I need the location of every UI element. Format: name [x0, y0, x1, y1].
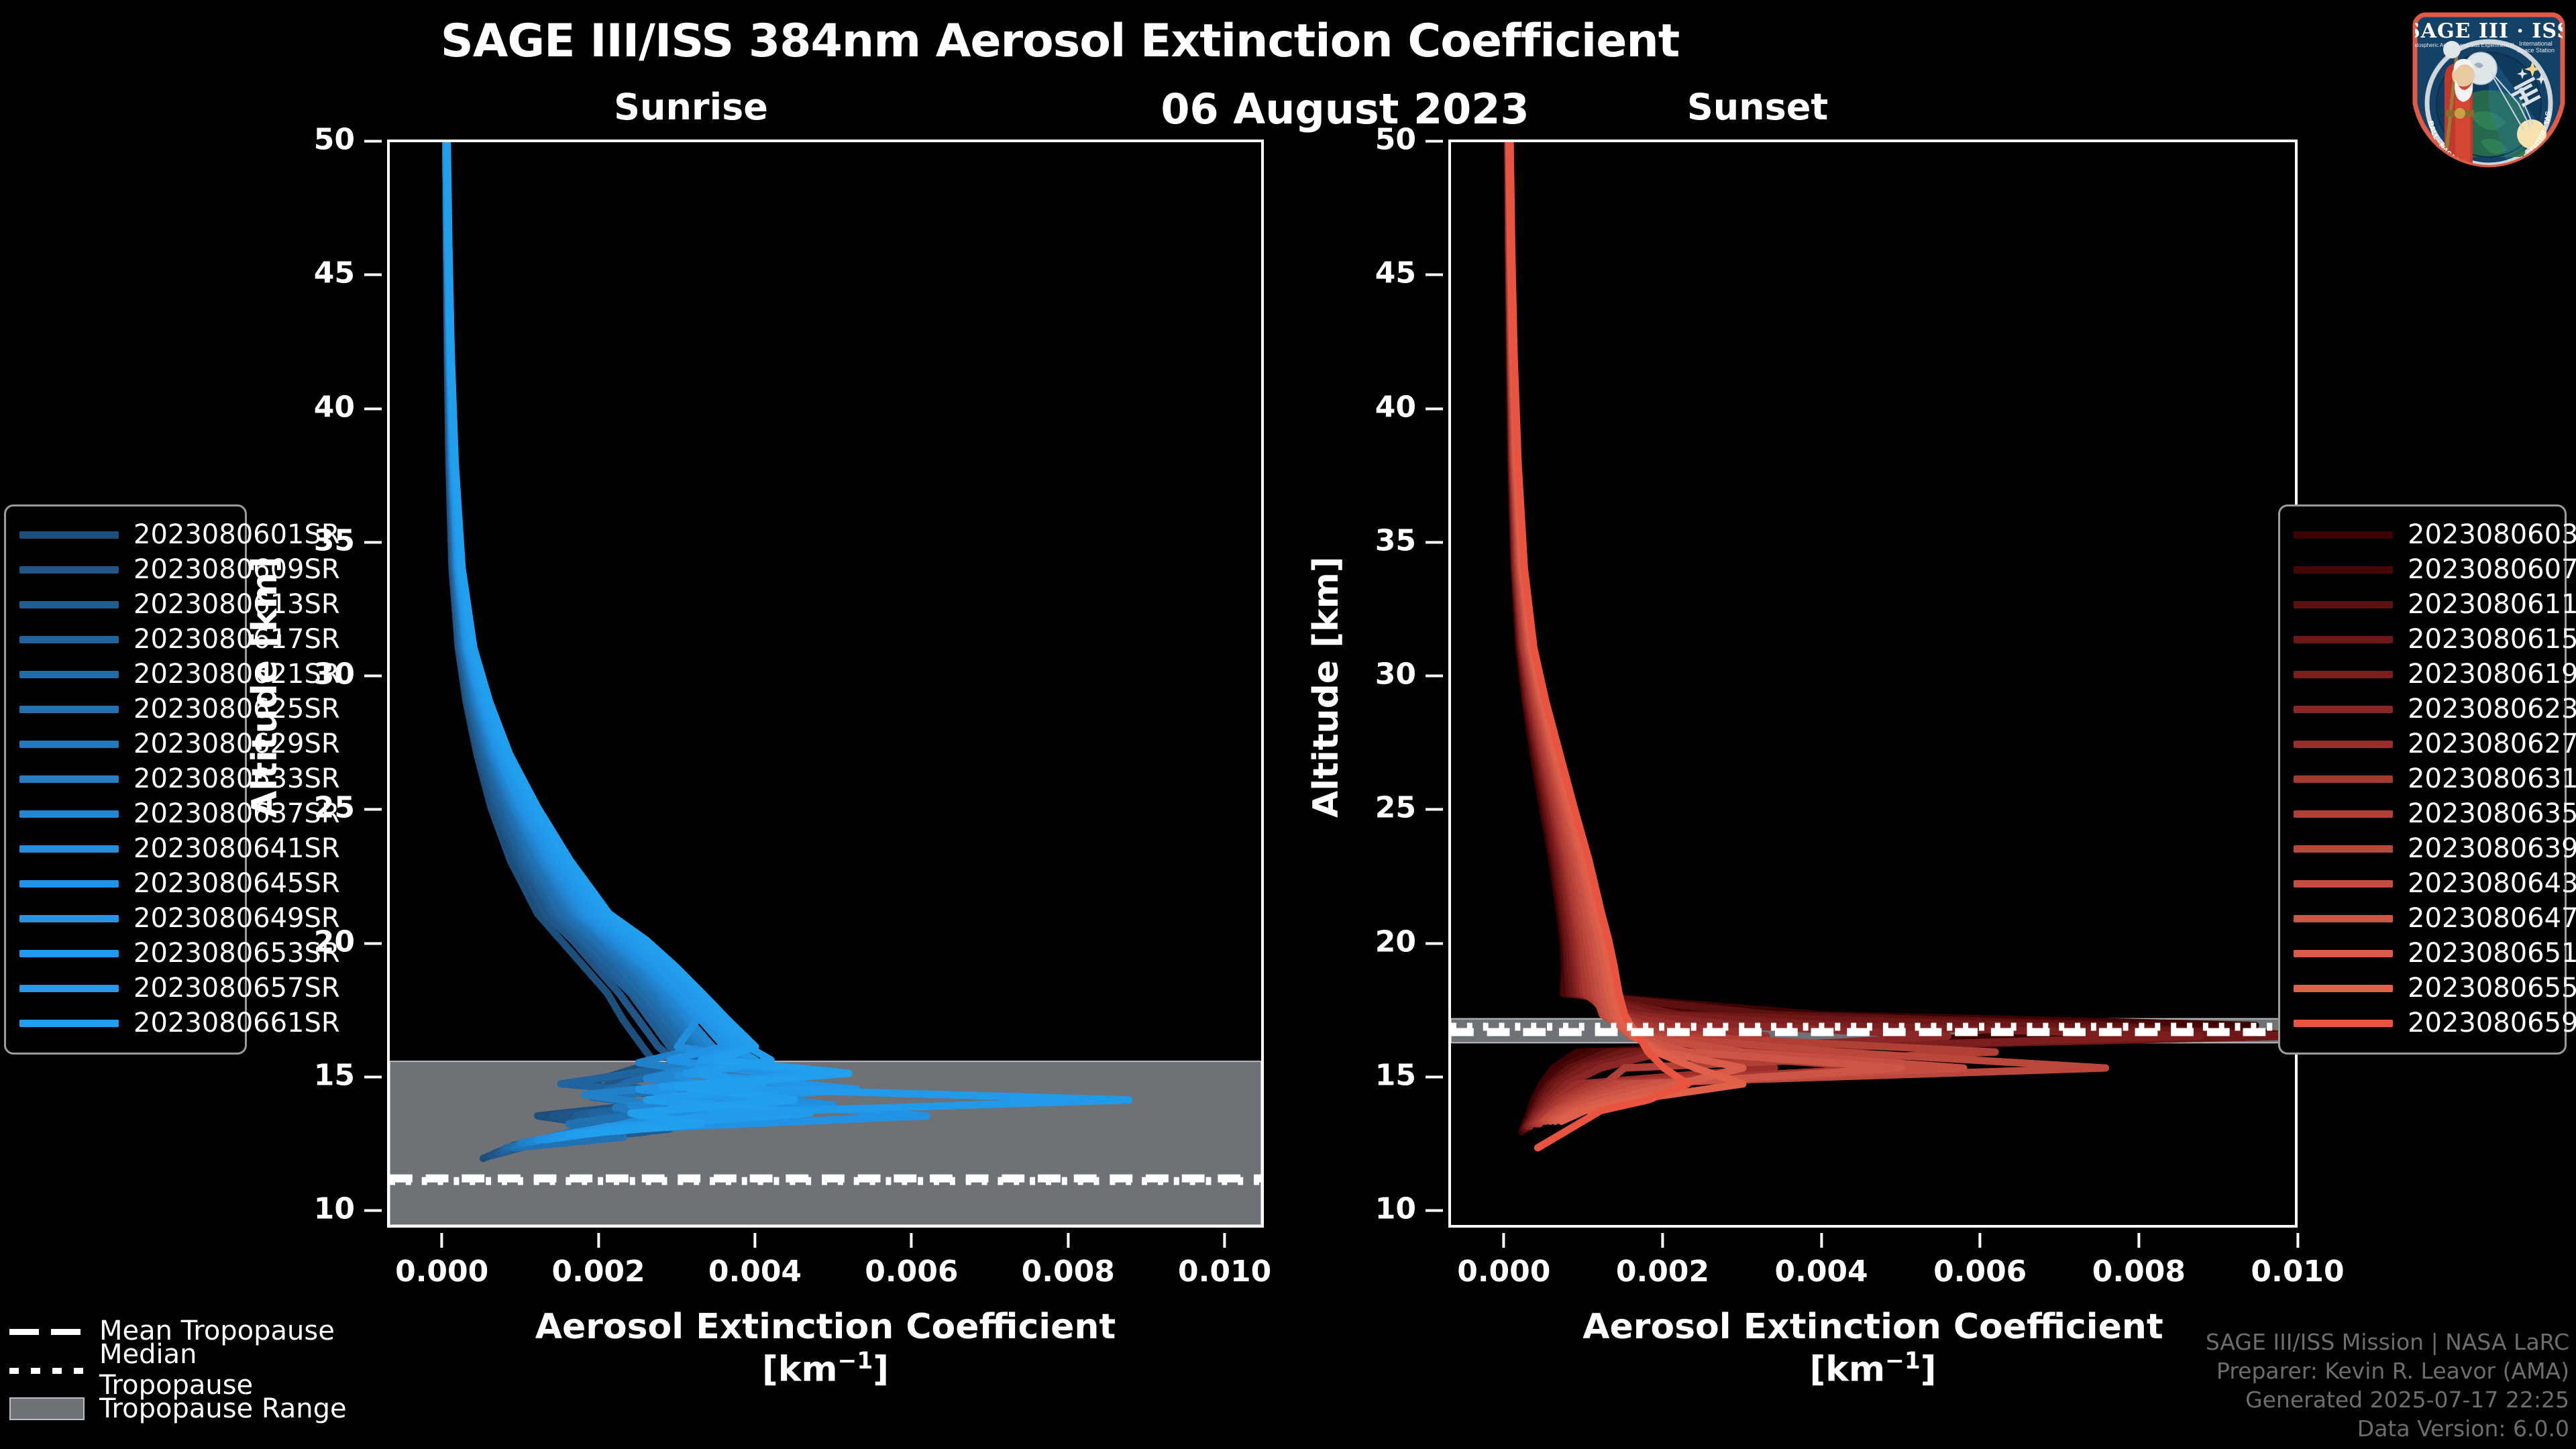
sunrise-legend-item[interactable]: 2023080645SR [19, 866, 230, 901]
svg-text:SAGE III · ISS: SAGE III · ISS [2406, 19, 2572, 43]
legend-item-label: 2023080625SR [133, 694, 340, 724]
legend-color-swatch [19, 636, 119, 643]
sunrise-x-axis: 0.0000.0020.0040.0060.0080.010 [387, 1233, 1264, 1293]
legend-item-label: 2023080651SS [2408, 938, 2576, 969]
profile-line [1509, 142, 1743, 1121]
y-tick-label: 15 [1375, 1058, 1443, 1092]
sunset-legend-item[interactable]: 2023080651SS [2294, 936, 2550, 971]
legend-item-label: 2023080607SS [2408, 554, 2576, 585]
legend-color-swatch [2294, 985, 2393, 992]
sunset-y-axis: 101520253035404550 [1356, 140, 1443, 1228]
tropopause-key-median: Median Tropopause [9, 1350, 358, 1389]
shaded-band-icon [9, 1397, 85, 1420]
legend-color-swatch [2294, 601, 2393, 608]
sunrise-legend-item[interactable]: 2023080661SR [19, 1006, 230, 1040]
sunset-legend-item[interactable]: 2023080635SS [2294, 796, 2550, 831]
sunset-legend-item[interactable]: 2023080603SS [2294, 517, 2550, 552]
sunset-legend-item[interactable]: 2023080631SS [2294, 761, 2550, 796]
x-tick-label: 0.008 [1022, 1233, 1115, 1289]
credits-line-1: SAGE III/ISS Mission | NASA LaRC [2206, 1328, 2569, 1357]
legend-item-label: 2023080615SS [2408, 624, 2576, 655]
legend-item-label: 2023080619SS [2408, 659, 2576, 690]
sunset-legend-item[interactable]: 2023080643SS [2294, 866, 2550, 901]
y-tick-label: 40 [314, 390, 382, 424]
legend-color-swatch [2294, 566, 2393, 574]
profile-line [1509, 142, 1743, 1121]
legend-color-swatch [19, 950, 119, 957]
credits-line-2: Preparer: Kevin R. Leavor (AMA) [2206, 1357, 2569, 1386]
sunrise-legend-item[interactable]: 2023080637SR [19, 796, 230, 831]
dotted-line-icon [9, 1362, 85, 1378]
sunset-legend-item[interactable]: 2023080627SS [2294, 727, 2550, 761]
x-tick-label: 0.000 [395, 1233, 488, 1289]
legend-item-label: 2023080655SS [2408, 973, 2576, 1004]
legend-item-label: 2023080641SR [133, 833, 340, 864]
legend-color-swatch [2294, 671, 2393, 678]
sunrise-legend-item[interactable]: 2023080641SR [19, 831, 230, 866]
sunrise-legend-item[interactable]: 2023080633SR [19, 761, 230, 796]
sunset-legend-item[interactable]: 2023080607SS [2294, 552, 2550, 587]
sunset-legend-item[interactable]: 2023080655SS [2294, 971, 2550, 1006]
legend-item-label: 2023080617SR [133, 624, 340, 655]
x-tick-label: 0.004 [1774, 1233, 1868, 1289]
legend-color-swatch [19, 985, 119, 992]
legend-color-swatch [19, 1020, 119, 1027]
credits-block: SAGE III/ISS Mission | NASA LaRC Prepare… [2206, 1328, 2569, 1444]
legend-color-swatch [2294, 950, 2393, 957]
legend-color-swatch [2294, 775, 2393, 783]
y-tick-label: 45 [314, 256, 382, 290]
legend-color-swatch [19, 845, 119, 853]
x-tick-label: 0.010 [2251, 1233, 2344, 1289]
legend-item-label: 2023080657SR [133, 973, 340, 1004]
legend-color-swatch [2294, 1020, 2393, 1027]
legend-item-label: 2023080603SS [2408, 519, 2576, 550]
x-tick-label: 0.008 [2092, 1233, 2186, 1289]
profile-line [447, 142, 1129, 1137]
legend-item-label: 2023080645SR [133, 868, 340, 899]
sunrise-legend-item[interactable]: 2023080649SR [19, 901, 230, 936]
credits-line-4: Data Version: 6.0.0 [2206, 1415, 2569, 1444]
sage-iii-iss-mission-patch-logo: SAGE III · ISS Stratospheric Aerosol and… [2406, 3, 2572, 169]
legend-item-label: 2023080627SS [2408, 729, 2576, 759]
sunset-legend-item[interactable]: 2023080611SS [2294, 587, 2550, 622]
sunrise-legend-item[interactable]: 2023080629SR [19, 727, 230, 761]
sunset-profile-svg [1451, 142, 2295, 1225]
sunrise-legend-item[interactable]: 2023080613SR [19, 587, 230, 622]
y-tick-label: 50 [314, 123, 382, 157]
credits-line-3: Generated 2025-07-17 22:25 [2206, 1386, 2569, 1415]
y-tick-label: 10 [314, 1192, 382, 1226]
legend-item-label: 2023080611SS [2408, 589, 2576, 620]
tropopause-key-range: Tropopause Range [9, 1389, 358, 1428]
sunset-panel-title: Sunset [1597, 86, 1919, 128]
legend-color-swatch [2294, 915, 2393, 922]
legend-item-label: 2023080601SR [133, 519, 340, 550]
y-tick-label: 20 [1375, 924, 1443, 959]
sunrise-legend-item[interactable]: 2023080653SR [19, 936, 230, 971]
sunset-legend-item[interactable]: 2023080647SS [2294, 901, 2550, 936]
legend-item-label: 2023080639SS [2408, 833, 2576, 864]
legend-item-label: 2023080635SS [2408, 798, 2576, 829]
legend-item-label: 2023080609SR [133, 554, 340, 585]
sunrise-legend-item[interactable]: 2023080609SR [19, 552, 230, 587]
svg-text:Space Station: Space Station [2517, 47, 2555, 54]
legend-color-swatch [19, 671, 119, 678]
legend-color-swatch [19, 601, 119, 608]
sunset-legend-item[interactable]: 2023080619SS [2294, 657, 2550, 692]
sunset-y-axis-title: Altitude [km] [1306, 556, 1346, 818]
legend-item-label: 2023080643SS [2408, 868, 2576, 899]
x-tick-label: 0.006 [865, 1233, 958, 1289]
sunset-legend-item[interactable]: 2023080639SS [2294, 831, 2550, 866]
legend-color-swatch [19, 741, 119, 748]
legend-item-label: 2023080613SR [133, 589, 340, 620]
y-tick-label: 25 [1375, 791, 1443, 825]
legend-item-label: 2023080653SR [133, 938, 340, 969]
legend-color-swatch [2294, 845, 2393, 853]
legend-item-label: 2023080621SR [133, 659, 340, 690]
legend-color-swatch [19, 880, 119, 888]
dashed-line-icon [9, 1323, 85, 1339]
y-tick-label: 35 [1375, 523, 1443, 557]
profile-line [1509, 142, 1774, 1124]
sunset-legend-item[interactable]: 2023080659SS [2294, 1006, 2550, 1040]
profile-line [1508, 142, 2295, 1129]
legend-color-swatch [2294, 880, 2393, 888]
tropopause-key: Mean Tropopause Median Tropopause Tropop… [9, 1311, 358, 1428]
x-tick-label: 0.002 [551, 1233, 645, 1289]
legend-item-label: 2023080649SR [133, 903, 340, 934]
legend-item-label: 2023080631SS [2408, 763, 2576, 794]
y-tick-label: 30 [1375, 657, 1443, 692]
legend-color-swatch [2294, 741, 2393, 748]
sunrise-profile-svg [390, 142, 1261, 1225]
svg-text:Stratospheric Aerosol and Gas: Stratospheric Aerosol and Gas Experiment… [2407, 42, 2514, 48]
legend-color-swatch [2294, 706, 2393, 713]
sunrise-panel-title: Sunrise [530, 86, 852, 128]
legend-item-label: 2023080647SS [2408, 903, 2576, 934]
legend-color-swatch [19, 531, 119, 539]
y-tick-label: 40 [1375, 390, 1443, 424]
legend-item-label: 2023080623SS [2408, 694, 2576, 724]
legend-color-swatch [19, 915, 119, 922]
sunset-legend: 2023080603SS2023080607SS2023080611SS2023… [2278, 504, 2567, 1055]
sunrise-legend-item[interactable]: 2023080621SR [19, 657, 230, 692]
profile-line [1508, 142, 2295, 1126]
legend-color-swatch [2294, 531, 2393, 539]
sunset-plot-area [1448, 140, 2298, 1228]
legend-color-swatch [19, 566, 119, 574]
legend-color-swatch [2294, 810, 2393, 818]
mission-patch-icon: SAGE III · ISS Stratospheric Aerosol and… [2406, 3, 2572, 169]
page-title: SAGE III/ISS 384nm Aerosol Extinction Co… [0, 15, 2120, 68]
x-tick-label: 0.002 [1616, 1233, 1709, 1289]
legend-item-label: 2023080633SR [133, 763, 340, 794]
sunrise-legend: 2023080601SR2023080609SR2023080613SR2023… [4, 504, 247, 1055]
x-tick-label: 0.006 [1933, 1233, 2027, 1289]
sunset-legend-item[interactable]: 2023080615SS [2294, 622, 2550, 657]
y-tick-label: 10 [1375, 1192, 1443, 1226]
profile-line [1508, 142, 2279, 1129]
sunset-x-axis-title: Aerosol Extinction Coefficient[km−1] [1448, 1307, 2298, 1391]
legend-item-label: 2023080659SS [2408, 1008, 2576, 1038]
sunrise-legend-item[interactable]: 2023080657SR [19, 971, 230, 1006]
date-title: 06 August 2023 [0, 85, 2576, 133]
legend-item-label: 2023080661SR [133, 1008, 340, 1038]
sunrise-legend-item[interactable]: 2023080617SR [19, 622, 230, 657]
y-tick-label: 15 [314, 1058, 382, 1092]
sunrise-plot-area [387, 140, 1264, 1228]
legend-color-swatch [19, 810, 119, 818]
tropopause-key-range-label: Tropopause Range [99, 1393, 347, 1424]
legend-item-label: 2023080637SR [133, 798, 340, 829]
x-tick-label: 0.010 [1178, 1233, 1271, 1289]
legend-color-swatch [2294, 636, 2393, 643]
legend-item-label: 2023080629SR [133, 729, 340, 759]
legend-color-swatch [19, 706, 119, 713]
y-tick-label: 45 [1375, 256, 1443, 290]
sunrise-legend-item[interactable]: 2023080601SR [19, 517, 230, 552]
svg-text:International: International [2519, 40, 2553, 47]
x-tick-label: 0.000 [1457, 1233, 1550, 1289]
y-tick-label: 50 [1375, 123, 1443, 157]
tropopause-key-median-label: Median Tropopause [99, 1339, 358, 1401]
legend-color-swatch [19, 775, 119, 783]
sunset-x-axis: 0.0000.0020.0040.0060.0080.010 [1448, 1233, 2298, 1293]
x-tick-label: 0.004 [708, 1233, 802, 1289]
sunrise-x-axis-title: Aerosol Extinction Coefficient[km−1] [387, 1307, 1264, 1391]
sunset-legend-item[interactable]: 2023080623SS [2294, 692, 2550, 727]
sunrise-legend-item[interactable]: 2023080625SR [19, 692, 230, 727]
